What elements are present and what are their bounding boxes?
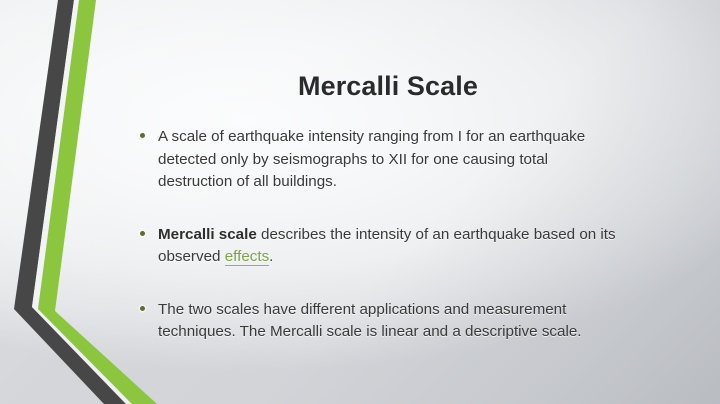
- list-item: The two scales have different applicatio…: [137, 299, 617, 344]
- list-item: Mercalli scale describes the intensity o…: [137, 224, 617, 269]
- bullet-2-text: Mercalli scale describes the intensity o…: [158, 224, 617, 269]
- bullet-1-segment-text: A scale of earthquake intensity ranging …: [158, 128, 585, 190]
- list-item: A scale of earthquake intensity ranging …: [137, 126, 617, 194]
- presentation-slide: Mercalli Scale A scale of earthquake int…: [0, 0, 720, 404]
- effects-hyperlink[interactable]: effects: [225, 248, 269, 266]
- bullet-1-text: A scale of earthquake intensity ranging …: [158, 126, 617, 194]
- bullet-marker: [137, 126, 158, 138]
- bullet-marker: [137, 299, 158, 311]
- bullet-marker: [137, 224, 158, 236]
- bullet-dot-icon: [140, 306, 145, 311]
- bullet-2-segment-period: .: [269, 248, 273, 265]
- bullet-dot-icon: [140, 133, 145, 138]
- bullet-3-segment-text: The two scales have different applicatio…: [158, 301, 582, 341]
- bullet-3-text: The two scales have different applicatio…: [158, 299, 617, 344]
- slide-body: A scale of earthquake intensity ranging …: [137, 126, 617, 344]
- slide-title: Mercalli Scale: [160, 71, 616, 102]
- bullet-dot-icon: [140, 231, 145, 236]
- bullet-2-term: Mercalli scale: [158, 226, 257, 243]
